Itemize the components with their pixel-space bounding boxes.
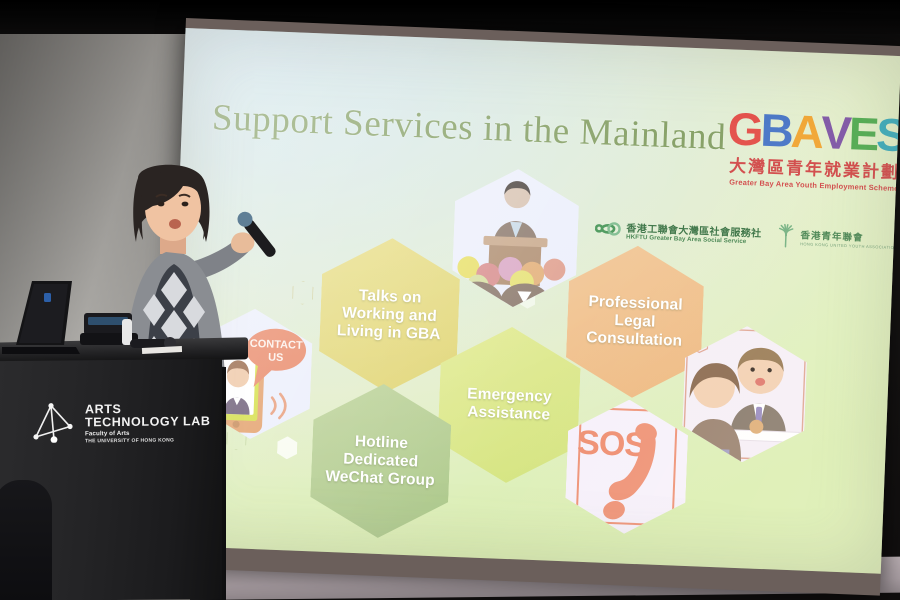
laptop-icon — [2, 281, 80, 354]
podium-equipment — [2, 275, 182, 355]
hexagon-professional-legal-consultation[interactable]: Professional Legal Consultation — [564, 243, 705, 400]
hexagon-emergency-assistance[interactable]: Emergency Assistance — [436, 324, 582, 485]
deco-hexagon-filled — [277, 436, 298, 460]
hexagon-hotline-dedicated-wechat-group[interactable]: Hotline Dedicated WeChat Group — [309, 381, 453, 540]
hexagon-talks-on-working-and-living-in-gba[interactable]: Talks on Working and Living in GBA — [318, 236, 462, 395]
deco-hexagon-outline — [292, 280, 314, 305]
desk-phone-icon — [80, 313, 138, 345]
lectern-brand-text: ARTS TECHNOLOGY LAB Faculty of Arts THE … — [85, 402, 211, 445]
hexagon-seminar-speaker[interactable] — [451, 167, 580, 310]
hexagon-label: Hotline Dedicated WeChat Group — [311, 431, 451, 490]
hexagon-label: Emergency Assistance — [438, 384, 579, 425]
sos-telephone-icon: SOS — [564, 397, 689, 536]
audience-silhouette — [0, 480, 52, 600]
brand-line-university: THE UNIVERSITY OF HONG KONG — [85, 438, 211, 445]
brand-line-technology-lab: TECHNOLOGY LAB — [85, 415, 211, 430]
hexagon-label: Talks on Working and Living in GBA — [319, 286, 459, 345]
podium-speaker-audience-icon — [451, 167, 580, 310]
hexagon-label: Professional Legal Consultation — [566, 292, 703, 351]
triangle-network-icon — [30, 400, 76, 447]
hexagon-sos-hotline[interactable]: SOS — [564, 397, 689, 536]
arts-technology-lab-branding: ARTS TECHNOLOGY LAB Faculty of Arts THE … — [30, 399, 211, 448]
